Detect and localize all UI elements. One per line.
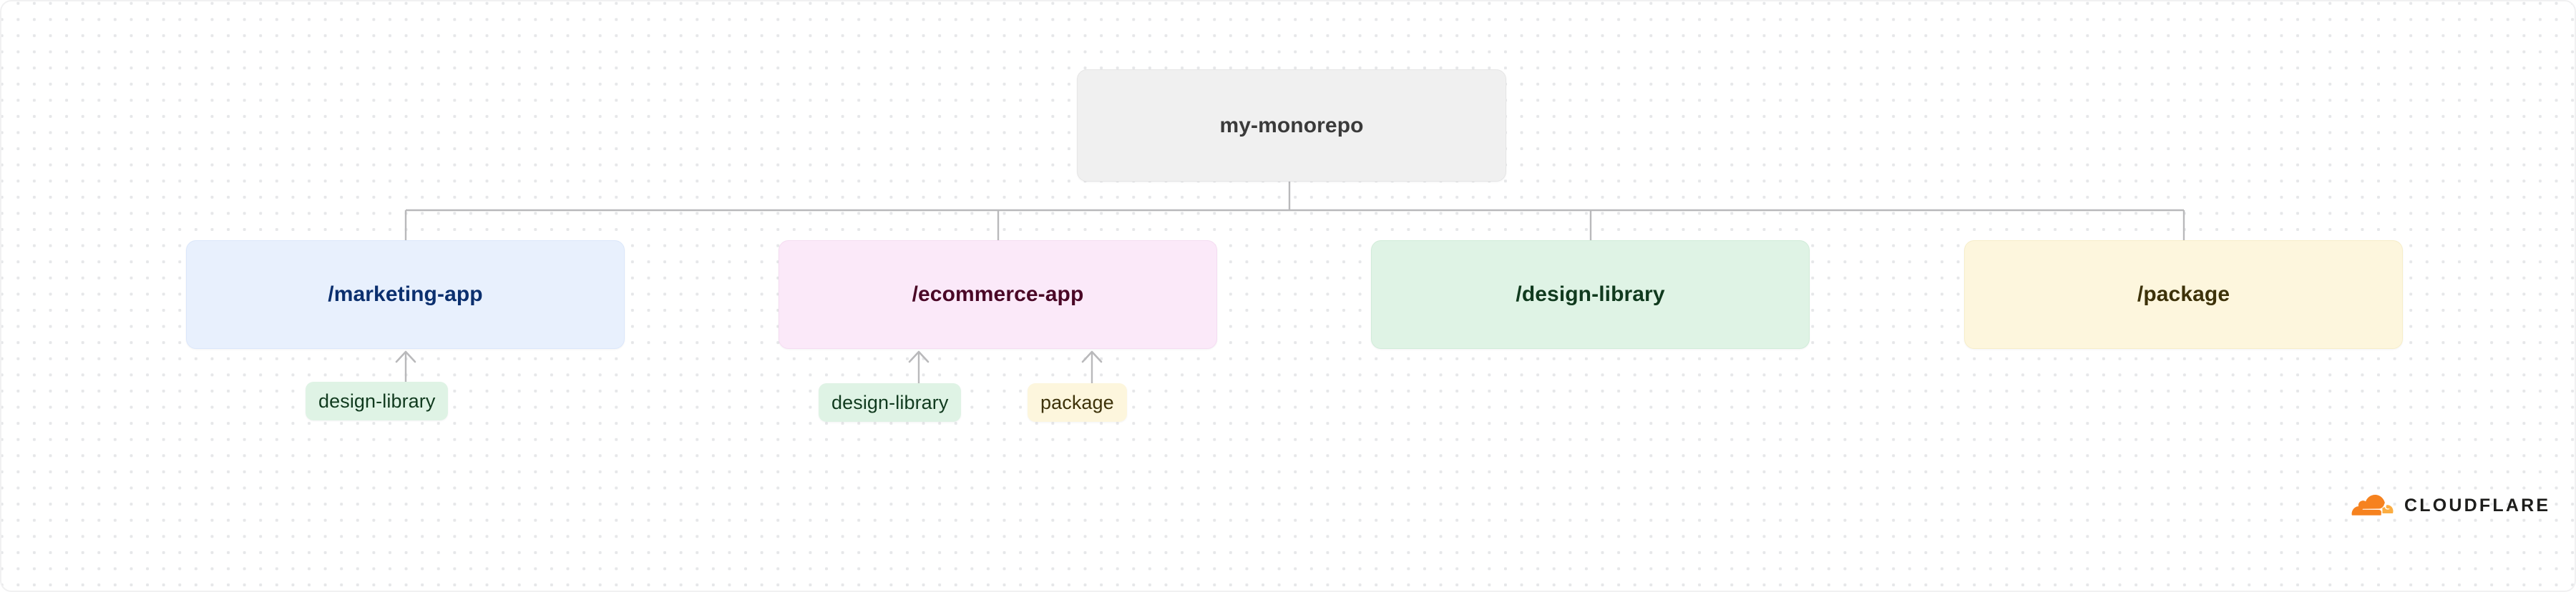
node-ecommerce-app[interactable]: /ecommerce-app xyxy=(779,240,1217,349)
dep-chip-ecommerce-app-package[interactable]: package xyxy=(1028,383,1127,422)
node-label-my-monorepo: my-monorepo xyxy=(1219,114,1363,138)
dep-chip-label: design-library xyxy=(318,390,435,413)
node-marketing-app[interactable]: /marketing-app xyxy=(186,240,625,349)
arrowhead-ecommerce-package xyxy=(1083,352,1101,362)
arrowhead-marketing-design-library xyxy=(396,352,415,362)
node-label-design-library: /design-library xyxy=(1516,282,1664,307)
node-label-ecommerce-app: /ecommerce-app xyxy=(912,282,1084,307)
node-package[interactable]: /package xyxy=(1964,240,2403,349)
diagram-canvas[interactable]: my-monorepo /marketing-app /ecommerce-ap… xyxy=(0,0,2576,592)
dep-chip-marketing-app-design-library[interactable]: design-library xyxy=(306,382,448,420)
node-my-monorepo[interactable]: my-monorepo xyxy=(1077,69,1506,182)
node-label-marketing-app: /marketing-app xyxy=(328,282,482,307)
node-design-library[interactable]: /design-library xyxy=(1371,240,1810,349)
dep-chip-ecommerce-app-design-library[interactable]: design-library xyxy=(819,383,961,422)
cloudflare-wordmark: CLOUDFLARE xyxy=(2404,495,2550,516)
arrowhead-ecommerce-design-library xyxy=(909,352,928,362)
node-label-package: /package xyxy=(2137,282,2230,307)
dep-chip-label: package xyxy=(1040,392,1114,414)
dep-chip-label: design-library xyxy=(831,392,948,414)
cloudflare-branding: CLOUDFLARE xyxy=(2351,495,2550,516)
cloudflare-logo-icon xyxy=(2351,495,2396,516)
